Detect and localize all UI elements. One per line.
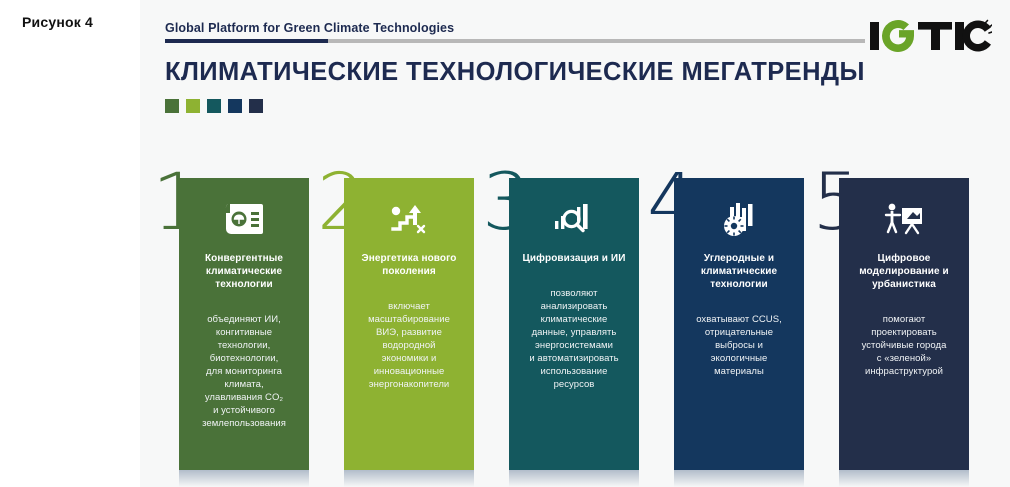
growth-arrow-icon — [387, 196, 431, 242]
megatrend-panel-2[interactable]: Энергетика нового поколения включаетмасш… — [344, 178, 474, 470]
megatrend-panel-3[interactable]: Цифровизация и ИИ позволяютанализировать… — [509, 178, 639, 470]
megatrend-column-4[interactable]: 4 — [647, 168, 812, 487]
megatrend-column-3[interactable]: 3 Цифровизация и ИИ позволяютанализирова… — [482, 168, 647, 487]
swatch-3 — [207, 99, 221, 113]
panel-reflection-4 — [674, 470, 804, 487]
slide-kicker: Global Platform for Green Climate Techno… — [165, 21, 454, 35]
panel-description-2: включаетмасштабированиеВИЭ, развитиеводо… — [368, 300, 450, 391]
swatch-4 — [228, 99, 242, 113]
data-magnifier-icon — [552, 196, 596, 242]
panel-reflection-3 — [509, 470, 639, 487]
panel-description-3: позволяютанализироватьклиматическиеданны… — [529, 287, 618, 391]
panel-description-4: охватывают CCUS,отрицательныевыбросы иэк… — [696, 313, 782, 378]
megatrend-columns: 1 Конвергентные клима — [140, 168, 1010, 487]
figure-caption: Рисунок 4 — [22, 14, 93, 30]
header-divider — [165, 39, 865, 43]
slide-canvas: Global Platform for Green Climate Techno… — [140, 0, 1010, 487]
page-title: КЛИМАТИЧЕСКИЕ ТЕХНОЛОГИЧЕСКИЕ МЕГАТРЕНДЫ — [165, 58, 865, 87]
megatrend-panel-5[interactable]: Цифровое моделирование и урбанистика пом… — [839, 178, 969, 470]
megatrend-panel-4[interactable]: Углеродные и климатические технологии ох… — [674, 178, 804, 470]
panel-reflection-1 — [179, 470, 309, 487]
swatch-5 — [249, 99, 263, 113]
igtic-logo-mark — [870, 16, 992, 56]
header-divider-accent — [165, 39, 328, 43]
swatch-2 — [186, 99, 200, 113]
megatrend-panel-1[interactable]: Конвергентные климатические технологии о… — [179, 178, 309, 470]
presenter-board-icon — [882, 196, 926, 242]
igtic-logo — [870, 16, 992, 56]
panel-title-3: Цифровизация и ИИ — [522, 252, 625, 265]
panel-title-5: Цифровое моделирование и урбанистика — [847, 252, 961, 291]
gear-factory-icon — [717, 196, 761, 242]
megatrend-column-5[interactable]: 5 Цифровое моделирование и урбанистика — [812, 168, 977, 487]
panel-title-4: Углеродные и климатические технологии — [682, 252, 796, 291]
panel-reflection-2 — [344, 470, 474, 487]
blueprint-leaf-icon — [222, 196, 266, 242]
panel-reflection-5 — [839, 470, 969, 487]
panel-description-1: объединяют ИИ,конгитивныетехнологии,биот… — [202, 313, 286, 430]
panel-title-2: Энергетика нового поколения — [352, 252, 466, 278]
color-swatch-row — [165, 99, 263, 113]
panel-title-1: Конвергентные климатические технологии — [187, 252, 301, 291]
swatch-1 — [165, 99, 179, 113]
panel-description-5: помогаютпроектироватьустойчивые городас … — [862, 313, 947, 378]
megatrend-column-2[interactable]: 2 Энергетика нового поколения включаетма… — [317, 168, 482, 487]
megatrend-column-1[interactable]: 1 Конвергентные клима — [152, 168, 317, 487]
